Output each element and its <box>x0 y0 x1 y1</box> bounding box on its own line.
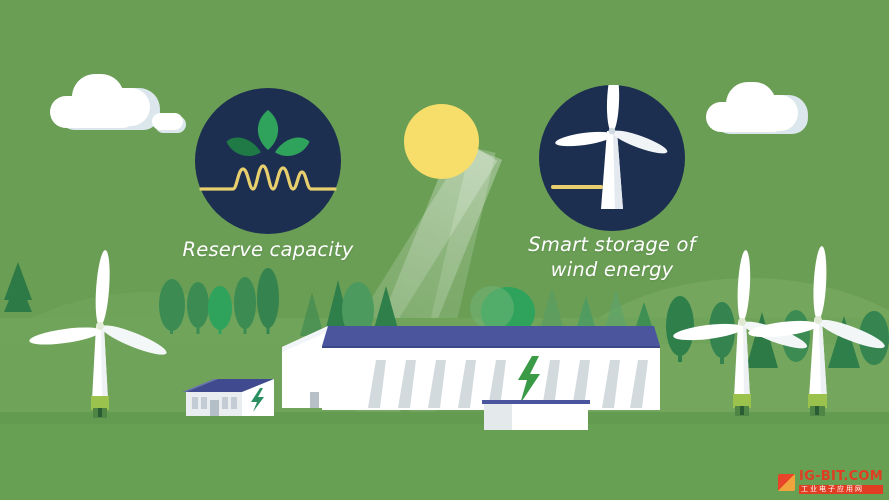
watermark-logo-icon <box>778 474 795 491</box>
badge-label-reserve-capacity: Reserve capacity <box>168 238 368 263</box>
substation-house <box>176 374 286 424</box>
badge-label-smart-storage: Smart storage of wind energy <box>512 233 712 283</box>
watermark-sub-text: 工业电子应用网 <box>799 485 883 494</box>
badge-smart-storage[interactable] <box>539 85 685 231</box>
wind-turbine-left <box>52 250 172 425</box>
cloud-right <box>706 82 808 134</box>
illustration-scene: Reserve capacity Smart storage of wind e… <box>0 0 889 500</box>
badge-reserve-capacity[interactable] <box>195 88 341 234</box>
energy-storage-facility <box>282 312 682 434</box>
site-watermark: IG-BIT.COM 工业电子应用网 <box>778 470 883 494</box>
watermark-main-text: IG-BIT.COM <box>799 470 883 483</box>
sun <box>404 104 479 179</box>
wind-turbine-right-front <box>766 246 889 431</box>
